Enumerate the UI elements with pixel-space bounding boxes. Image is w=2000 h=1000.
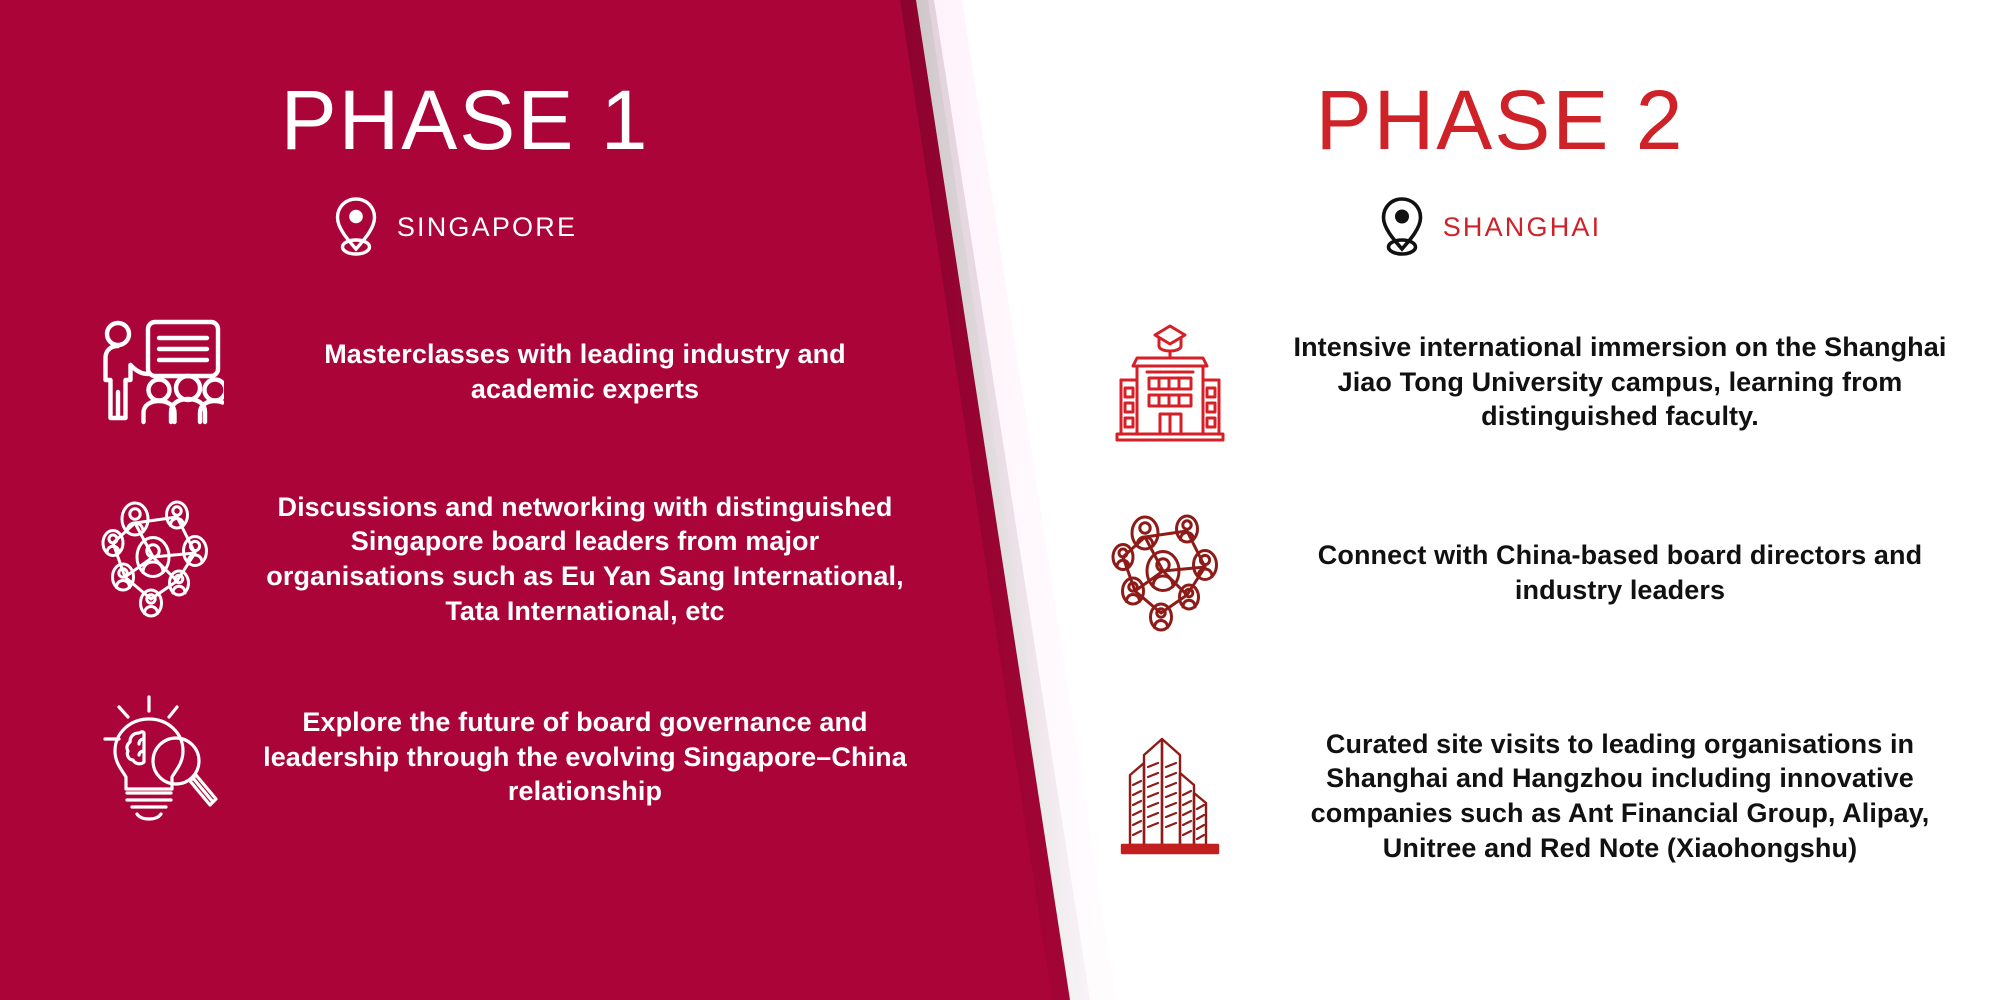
phase-2-location-label: SHANGHAI (1443, 212, 1602, 243)
phase-1-item-list: Masterclasses with leading industry and … (0, 302, 1000, 842)
phase-1-location-label: SINGAPORE (397, 212, 577, 243)
phase-2-item-3-text: Curated site visits to leading organisat… (1270, 727, 2000, 865)
people-network-icon (1070, 509, 1270, 637)
phase-2-item-2-text: Connect with China-based board directors… (1270, 538, 2000, 607)
phase-comparison-slide: PHASE 1 SINGAPORE (0, 0, 2000, 1000)
people-network-icon (60, 495, 260, 623)
phase-2-item-3: Curated site visits to leading organisat… (1000, 676, 2000, 916)
phase-1-item-1-text: Masterclasses with leading industry and … (260, 337, 1000, 406)
phase-1-title: PHASE 1 (0, 78, 930, 162)
location-pin-icon (1379, 196, 1425, 258)
presentation-training-icon (60, 318, 260, 426)
phase-1-item-2: Discussions and networking with distingu… (0, 464, 1000, 654)
phase-2-item-1: Intensive international immersion on the… (1000, 302, 2000, 462)
phase-2-item-list: Intensive international immersion on the… (1000, 302, 2000, 916)
phase-1-column: PHASE 1 SINGAPORE (0, 0, 1000, 1000)
phase-2-item-2: Connect with China-based board directors… (1000, 498, 2000, 648)
phase-2-column: PHASE 2 SHANGHAI (1000, 0, 2000, 1000)
phase-2-item-1-text: Intensive international immersion on the… (1270, 330, 2000, 434)
phase-1-item-3-text: Explore the future of board governance a… (260, 705, 1000, 809)
phase-2-title: PHASE 2 (1000, 78, 2000, 162)
city-skyscrapers-icon (1070, 733, 1270, 859)
phase-1-location: SINGAPORE (0, 196, 910, 258)
location-pin-icon (333, 196, 379, 258)
university-building-icon (1070, 322, 1270, 442)
phase-1-item-3: Explore the future of board governance a… (0, 672, 1000, 842)
phase-2-location: SHANGHAI (1000, 196, 1980, 258)
phase-1-item-2-text: Discussions and networking with distingu… (260, 490, 1000, 628)
phase-1-item-1: Masterclasses with leading industry and … (0, 302, 1000, 442)
lightbulb-brain-magnifier-icon (60, 693, 260, 821)
